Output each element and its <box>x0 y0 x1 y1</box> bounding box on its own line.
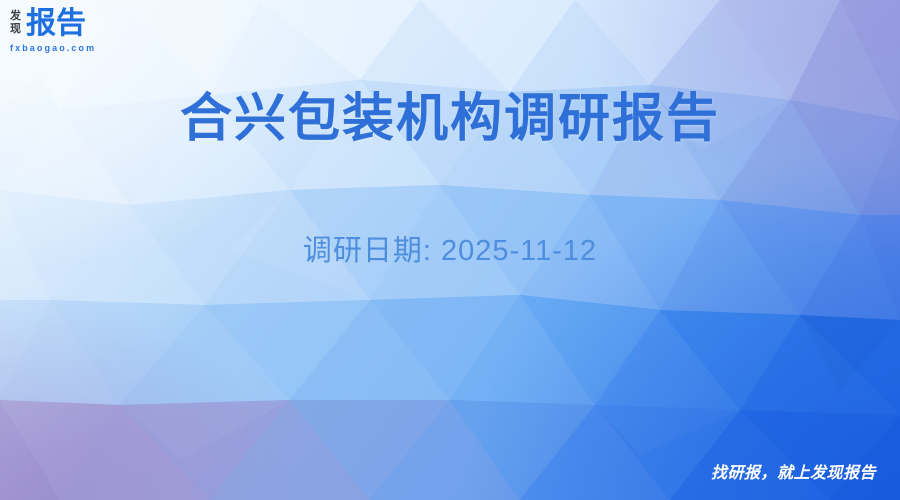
page-title: 合兴包装机构调研报告 <box>0 88 900 150</box>
logo-mark-line2: 现 <box>10 23 21 35</box>
title-block: 合兴包装机构调研报告 <box>0 88 900 150</box>
logo-mark-line1: 发 <box>10 10 21 22</box>
subtitle-block: 调研日期: 2025-11-12 <box>0 232 900 270</box>
logo-wordmark: 报告 <box>26 8 86 40</box>
logo-row: 发 现 报告 <box>10 8 170 42</box>
logo-mark: 发 现 <box>10 8 21 35</box>
footer-tagline: 找研报，就上发现报告 <box>711 464 876 484</box>
logo-url: fxbaogao.com <box>10 43 170 54</box>
site-logo[interactable]: 发 现 报告 fxbaogao.com <box>10 8 170 58</box>
report-cover-slide: 发 现 报告 fxbaogao.com 合兴包装机构调研报告 调研日期: 202… <box>0 0 900 500</box>
survey-date: 调研日期: 2025-11-12 <box>0 232 900 270</box>
